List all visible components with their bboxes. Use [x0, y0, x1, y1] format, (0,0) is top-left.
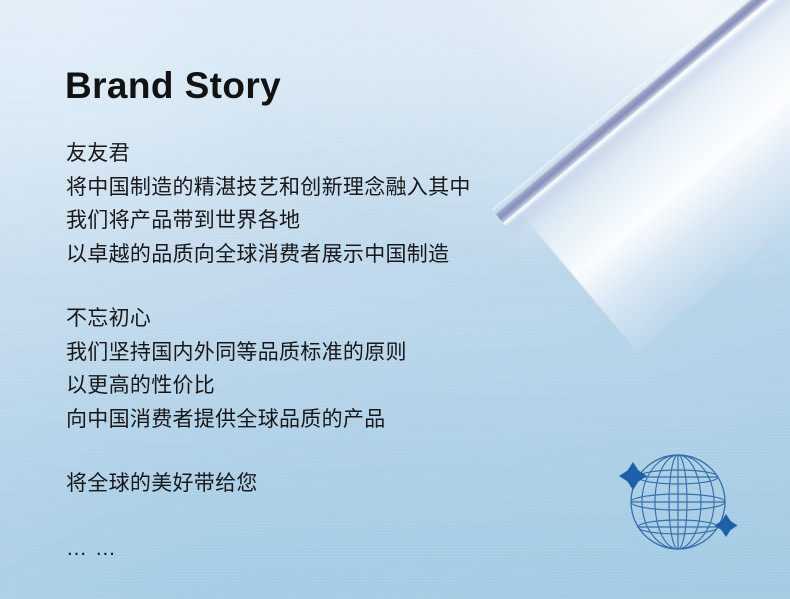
slide-canvas: Brand Story 友友君 将中国制造的精湛技艺和创新理念融入其中 我们将产…: [0, 0, 790, 599]
page-title: Brand Story: [65, 66, 281, 107]
body-text-block: 友友君 将中国制造的精湛技艺和创新理念融入其中 我们将产品带到世界各地 以卓越的…: [66, 137, 706, 565]
paragraph-4: … …: [66, 532, 706, 566]
paragraph-1-line-1: 友友君: [66, 137, 706, 171]
paragraph-1-line-3: 我们将产品带到世界各地: [66, 204, 706, 238]
paragraph-3-line-1: 将全球的美好带给您: [66, 467, 706, 501]
paragraph-2-line-4: 向中国消费者提供全球品质的产品: [66, 403, 706, 437]
paragraph-2: 不忘初心 我们坚持国内外同等品质标准的原则 以更高的性价比 向中国消费者提供全球…: [66, 302, 706, 436]
paragraph-1: 友友君 将中国制造的精湛技艺和创新理念融入其中 我们将产品带到世界各地 以卓越的…: [66, 137, 706, 271]
paragraph-3: 将全球的美好带给您: [66, 467, 706, 501]
paragraph-4-ellipsis: … …: [66, 532, 706, 566]
paragraph-2-line-2: 我们坚持国内外同等品质标准的原则: [66, 336, 706, 370]
paragraph-spacer-3: [66, 501, 706, 532]
paragraph-1-line-2: 将中国制造的精湛技艺和创新理念融入其中: [66, 171, 706, 205]
paragraph-2-line-3: 以更高的性价比: [66, 369, 706, 403]
paragraph-2-line-1: 不忘初心: [66, 302, 706, 336]
paragraph-spacer-2: [66, 436, 706, 467]
paragraph-spacer-1: [66, 271, 706, 302]
paragraph-1-line-4: 以卓越的品质向全球消费者展示中国制造: [66, 238, 706, 272]
